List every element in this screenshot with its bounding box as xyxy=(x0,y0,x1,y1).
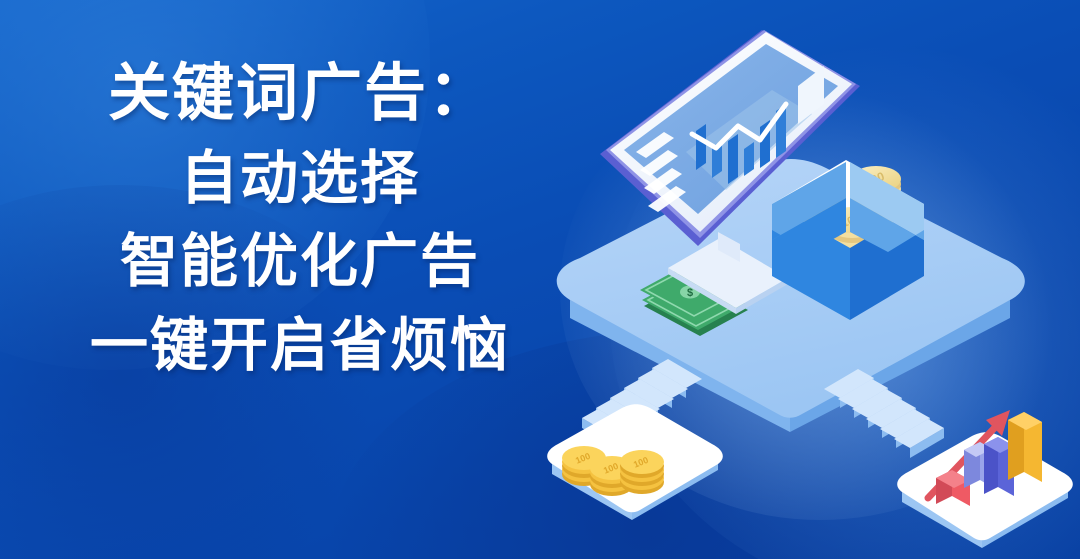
illustration-scene: 100 100 xyxy=(540,0,1080,559)
headline-line-2: 自动选择 xyxy=(180,149,420,208)
chart-bar-4 xyxy=(1008,412,1042,482)
svg-text:$: $ xyxy=(687,287,693,299)
headline-line-3: 智能优化广告 xyxy=(120,232,480,291)
coin-tile: 100 100 xyxy=(547,404,723,520)
coin-stack-left-c: 100 xyxy=(620,450,664,494)
headline-line-4: 一键开启省烦恼 xyxy=(90,316,510,375)
promo-banner: 关键词广告： 自动选择 智能优化广告 一键开启省烦恼 xyxy=(0,0,1080,559)
headline-block: 关键词广告： 自动选择 智能优化广告 一键开启省烦恼 xyxy=(0,62,600,375)
headline-line-1: 关键词广告： xyxy=(108,62,492,125)
